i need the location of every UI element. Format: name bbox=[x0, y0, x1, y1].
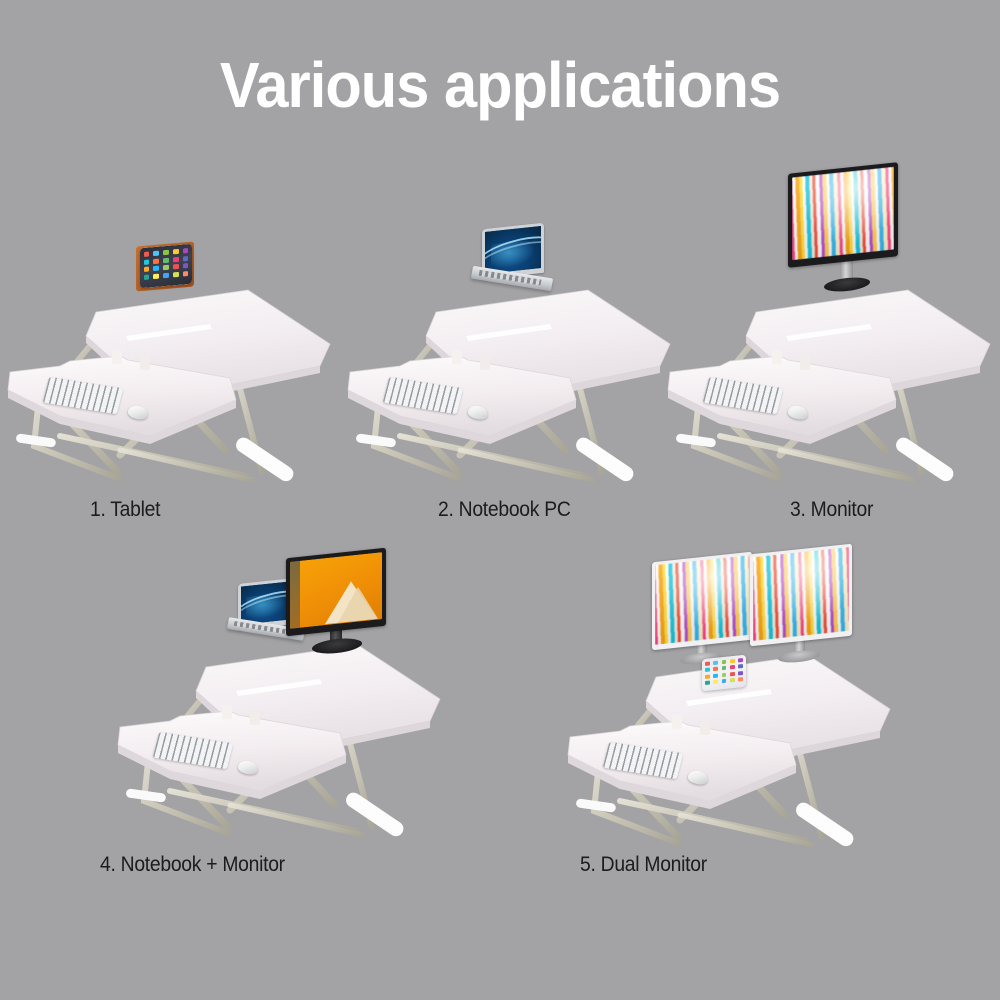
desk-riser-unit-2 bbox=[340, 240, 680, 500]
laptop-wallpaper-blue-wave bbox=[241, 581, 291, 624]
monitor-screen-left bbox=[655, 555, 749, 645]
app-icon bbox=[183, 248, 188, 254]
tablet-device bbox=[140, 246, 192, 286]
page-title: Various applications bbox=[35, 52, 965, 119]
app-icon bbox=[173, 256, 178, 262]
panel-caption-3: 3. Monitor bbox=[790, 498, 873, 522]
app-icon bbox=[738, 658, 743, 663]
tablet-icon-grid bbox=[144, 248, 189, 281]
app-icon bbox=[713, 661, 718, 666]
app-icon bbox=[183, 271, 188, 277]
panel-caption-1: 1. Tablet bbox=[90, 498, 160, 522]
app-icon bbox=[705, 680, 710, 685]
app-icon bbox=[738, 671, 743, 676]
monitor-wallpaper-streaks-left bbox=[655, 555, 749, 645]
tablet-icon-grid bbox=[705, 658, 743, 685]
desk-riser-unit-4 bbox=[110, 595, 450, 855]
app-icon bbox=[713, 673, 718, 678]
app-icon bbox=[153, 274, 158, 280]
app-icon bbox=[738, 677, 743, 682]
app-icon bbox=[738, 664, 743, 669]
infographic-page: Various applications bbox=[0, 0, 1000, 1000]
app-icon bbox=[173, 264, 178, 270]
app-icon bbox=[163, 257, 168, 263]
monitor-device bbox=[286, 553, 406, 673]
tablet-screen bbox=[702, 655, 746, 692]
laptop-screen bbox=[485, 226, 541, 274]
app-icon bbox=[144, 275, 149, 281]
app-icon bbox=[173, 272, 178, 278]
app-icon bbox=[163, 273, 168, 279]
app-icon bbox=[705, 661, 710, 666]
monitor-bezel-right bbox=[750, 544, 852, 647]
app-icon bbox=[183, 263, 188, 269]
app-icon bbox=[163, 265, 168, 271]
laptop-screen bbox=[241, 581, 291, 624]
app-icon bbox=[183, 256, 188, 262]
monitor-screen bbox=[290, 552, 382, 629]
app-icon bbox=[730, 659, 735, 664]
app-icon bbox=[713, 679, 718, 684]
app-icon bbox=[722, 672, 727, 677]
monitor-bezel bbox=[788, 162, 898, 268]
app-icon bbox=[173, 249, 178, 255]
panel-caption-5: 5. Dual Monitor bbox=[580, 853, 707, 877]
app-icon bbox=[705, 674, 710, 679]
app-icon bbox=[722, 666, 727, 671]
monitor-bezel-left bbox=[652, 552, 752, 651]
app-icon bbox=[144, 267, 149, 273]
app-icon bbox=[730, 678, 735, 683]
tablet-device bbox=[702, 657, 746, 689]
app-icon bbox=[144, 259, 149, 265]
app-icon bbox=[153, 258, 158, 264]
panel-caption-4: 4. Notebook + Monitor bbox=[100, 853, 285, 877]
desk-riser-unit-5 bbox=[560, 605, 900, 865]
app-icon bbox=[722, 679, 727, 684]
panel-caption-2: 2. Notebook PC bbox=[438, 498, 571, 522]
monitor-screen bbox=[792, 167, 894, 261]
monitor-wallpaper-orange bbox=[290, 552, 382, 629]
laptop-device bbox=[470, 226, 550, 298]
app-icon bbox=[153, 266, 158, 272]
monitor-base-right bbox=[778, 649, 820, 664]
tablet-wallpaper bbox=[702, 655, 746, 692]
app-icon bbox=[722, 660, 727, 665]
monitor-base bbox=[312, 636, 362, 655]
monitor-device-right bbox=[750, 549, 865, 674]
monitor-wallpaper-streaks bbox=[792, 167, 894, 261]
app-icon bbox=[730, 671, 735, 676]
monitor-device bbox=[788, 168, 908, 308]
monitor-bezel bbox=[286, 548, 386, 637]
app-icon bbox=[705, 668, 710, 673]
monitor-screen-right bbox=[753, 547, 849, 641]
desk-riser-unit-1 bbox=[0, 240, 340, 500]
desk-riser-unit-3 bbox=[660, 240, 1000, 500]
app-icon bbox=[713, 667, 718, 672]
app-icon bbox=[144, 251, 149, 257]
app-icon bbox=[163, 249, 168, 255]
monitor-wallpaper-streaks-right bbox=[753, 547, 849, 641]
tablet-wallpaper bbox=[140, 244, 192, 289]
monitor-base bbox=[824, 276, 870, 294]
laptop-wallpaper-blue-wave bbox=[485, 226, 541, 274]
app-icon bbox=[153, 250, 158, 256]
app-icon bbox=[730, 665, 735, 670]
tablet-screen bbox=[140, 244, 192, 289]
